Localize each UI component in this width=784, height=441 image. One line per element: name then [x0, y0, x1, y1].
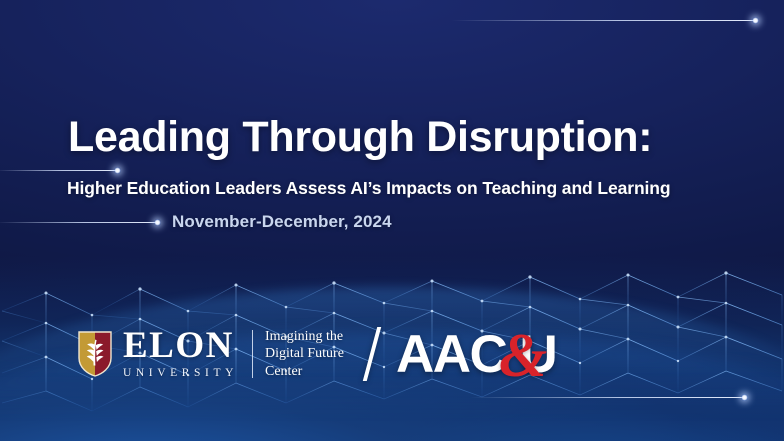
slide-subtitle: Higher Education Leaders Assess AI’s Imp…: [67, 178, 670, 199]
accent-dot-date-left: [154, 219, 161, 226]
accent-dot-top-right: [752, 17, 759, 24]
aacu-text-left: AAC: [396, 325, 506, 384]
elon-wordmark: ELON UNIVERSITY: [123, 328, 238, 380]
logo-divider-rule: [252, 330, 253, 378]
accent-line-date-left: [0, 222, 156, 223]
accent-line-title-left: [0, 170, 116, 171]
idf-line-1: Imagining the: [265, 328, 344, 345]
idf-line-2: Digital Future: [265, 345, 344, 362]
accent-dot-title-left: [114, 167, 121, 174]
slide-date-range: November-December, 2024: [172, 212, 392, 232]
presentation-title-slide: Leading Through Disruption: Higher Educa…: [0, 0, 784, 441]
elon-subname: UNIVERSITY: [123, 367, 238, 379]
aacu-ampersand-icon: &: [499, 321, 547, 392]
accent-dot-bottom-right: [741, 394, 748, 401]
elon-name: ELON: [123, 329, 238, 363]
elon-shield-icon: [78, 331, 112, 377]
slide-title: Leading Through Disruption:: [68, 113, 652, 162]
idf-line-3: Center: [265, 363, 344, 380]
accent-line-top-right: [452, 20, 755, 21]
imagining-digital-future-center-label: Imagining the Digital Future Center: [265, 328, 344, 379]
aacu-logo: AAC U &: [396, 323, 556, 385]
logo-slash-divider: [363, 327, 381, 381]
logo-row: ELON UNIVERSITY Imagining the Digital Fu…: [78, 312, 556, 396]
elon-university-logo: ELON UNIVERSITY Imagining the Digital Fu…: [78, 321, 344, 387]
